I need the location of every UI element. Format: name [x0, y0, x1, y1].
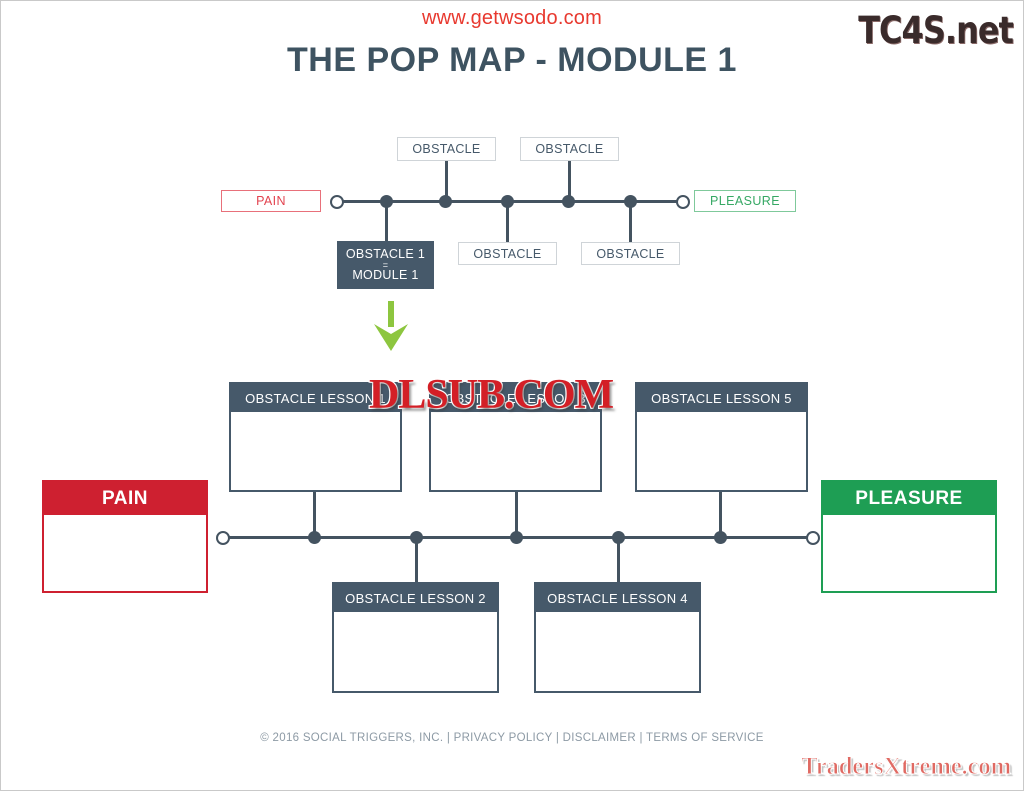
bottom-timeline-end-node [806, 531, 820, 545]
connector-below-3 [629, 201, 632, 242]
bottom-node-5[interactable] [714, 531, 727, 544]
tc4s-logo: TC4S.net [858, 9, 1013, 52]
lesson-card-2[interactable]: OBSTACLE LESSON 2 [332, 582, 499, 693]
pain-panel-title: PAIN [44, 482, 206, 515]
top-timeline-start-node [330, 195, 344, 209]
lesson-card-2-title: OBSTACLE LESSON 2 [334, 584, 497, 612]
top-obstacle-above-1[interactable]: OBSTACLE [397, 137, 496, 161]
lesson-card-4-body[interactable] [536, 612, 699, 691]
down-arrow-icon [371, 301, 411, 356]
top-obstacle-module-highlight[interactable]: OBSTACLE 1 = MODULE 1 [337, 241, 434, 289]
pop-map-page: www.getwsodo.com www.getwsodo.com THE PO… [0, 0, 1024, 791]
top-node-4[interactable] [562, 195, 575, 208]
lesson-card-4-title: OBSTACLE LESSON 4 [536, 584, 699, 612]
pain-panel[interactable]: PAIN [42, 480, 208, 593]
top-obstacle-below-3[interactable]: OBSTACLE [581, 242, 680, 265]
pain-panel-body[interactable] [44, 515, 206, 593]
bottom-node-1[interactable] [308, 531, 321, 544]
lesson-card-1-body[interactable] [231, 412, 400, 490]
pleasure-panel-body[interactable] [823, 515, 995, 593]
top-obstacle-above-2[interactable]: OBSTACLE [520, 137, 619, 161]
bottom-timeline-start-node [216, 531, 230, 545]
pleasure-panel-title: PLEASURE [823, 482, 995, 515]
lesson-card-2-body[interactable] [334, 612, 497, 691]
connector-lesson-2 [415, 537, 418, 583]
top-obstacle-below-2[interactable]: OBSTACLE [458, 242, 557, 265]
top-pain-tag[interactable]: PAIN [221, 190, 321, 212]
connector-below-1 [385, 201, 388, 241]
highlight-line-2: MODULE 1 [352, 269, 418, 282]
lesson-card-4[interactable]: OBSTACLE LESSON 4 [534, 582, 701, 693]
dlsub-watermark: DLSUB.COM [369, 371, 613, 419]
top-watermark-text: www.getwsodo.com [422, 7, 602, 29]
top-timeline-end-node [676, 195, 690, 209]
footer-text: © 2016 SOCIAL TRIGGERS, INC. | PRIVACY P… [1, 732, 1023, 744]
connector-lesson-4 [617, 537, 620, 583]
lesson-card-5-title: OBSTACLE LESSON 5 [637, 384, 806, 412]
lesson-card-3-body[interactable] [431, 412, 600, 490]
connector-below-2 [506, 201, 509, 242]
top-node-2[interactable] [439, 195, 452, 208]
lesson-card-5[interactable]: OBSTACLE LESSON 5 [635, 382, 808, 492]
lesson-card-5-body[interactable] [637, 412, 806, 490]
top-pleasure-tag[interactable]: PLEASURE [694, 190, 796, 212]
pleasure-panel[interactable]: PLEASURE [821, 480, 997, 593]
tradersxtreme-watermark: TradersXtreme.com [801, 753, 1011, 781]
bottom-node-3[interactable] [510, 531, 523, 544]
